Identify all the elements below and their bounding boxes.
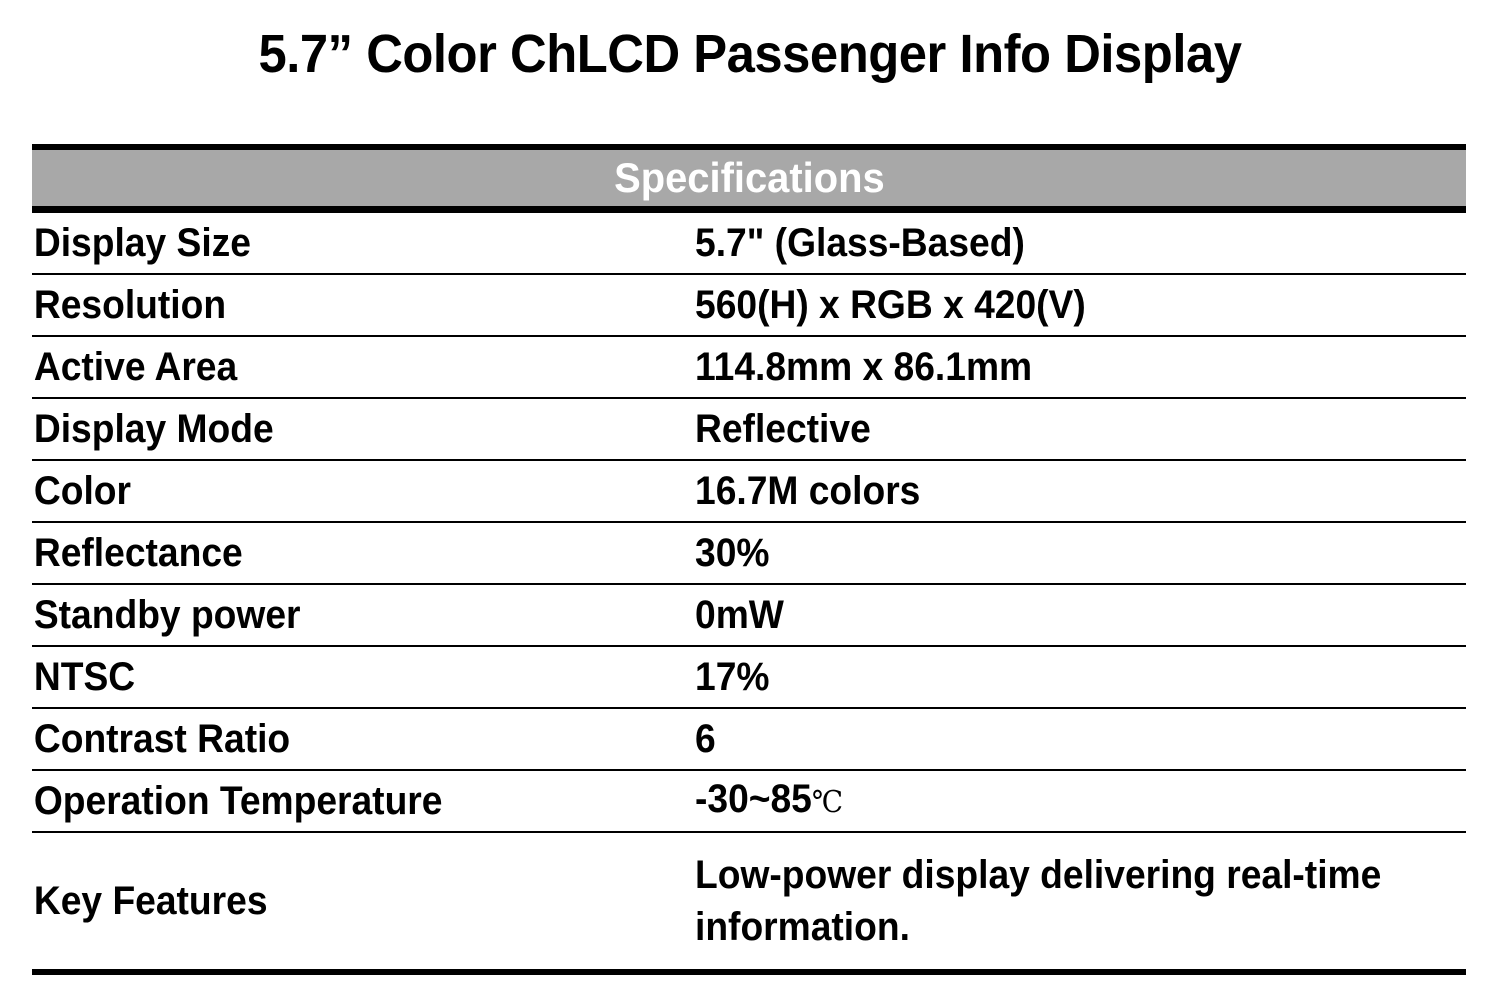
table-row: Display Size 5.7" (Glass-Based) [32,213,1466,275]
table-row: Active Area 114.8mm x 86.1mm [32,337,1466,399]
row-label: NTSC [32,655,649,699]
row-value: 17% [695,655,1412,699]
specifications-table: Specifications Display Size 5.7" (Glass-… [32,144,1466,975]
table-row: Key Features Low-power display deliverin… [32,833,1466,969]
row-value: 0mW [695,593,1412,637]
row-label: Key Features [32,879,649,923]
row-value: -30~85℃ [695,777,1412,825]
degree-celsius-icon: ℃ [812,785,843,820]
row-value: 6 [695,717,1412,761]
table-row: Reflectance 30% [32,523,1466,585]
row-label: Operation Temperature [32,779,649,823]
row-label: Standby power [32,593,649,637]
table-row: Standby power 0mW [32,585,1466,647]
table-row: Color 16.7M colors [32,461,1466,523]
row-value: 114.8mm x 86.1mm [695,345,1412,389]
row-label: Active Area [32,345,649,389]
table-row: Display Mode Reflective [32,399,1466,461]
row-value: 560(H) x RGB x 420(V) [695,283,1412,327]
row-label: Contrast Ratio [32,717,649,761]
table-row: Resolution 560(H) x RGB x 420(V) [32,275,1466,337]
row-label: Reflectance [32,531,649,575]
row-label: Color [32,469,649,513]
row-label: Resolution [32,283,649,327]
row-value: Low-power display delivering real-time i… [695,849,1411,953]
row-value: Reflective [695,407,1412,451]
table-row: Contrast Ratio 6 [32,709,1466,771]
row-label: Display Mode [32,407,649,451]
row-label: Display Size [32,221,649,265]
row-value: 5.7" (Glass-Based) [695,221,1412,265]
table-header-bar: Specifications [32,150,1466,213]
page-title: 5.7” Color ChLCD Passenger Info Display [45,22,1455,86]
row-value: 16.7M colors [695,469,1412,513]
table-header-label: Specifications [614,156,885,200]
table-row: NTSC 17% [32,647,1466,709]
row-value-number: -30~85 [695,777,812,821]
row-value: 30% [695,531,1412,575]
table-row: Operation Temperature -30~85℃ [32,771,1466,833]
spec-sheet-page: 5.7” Color ChLCD Passenger Info Display … [0,0,1500,984]
